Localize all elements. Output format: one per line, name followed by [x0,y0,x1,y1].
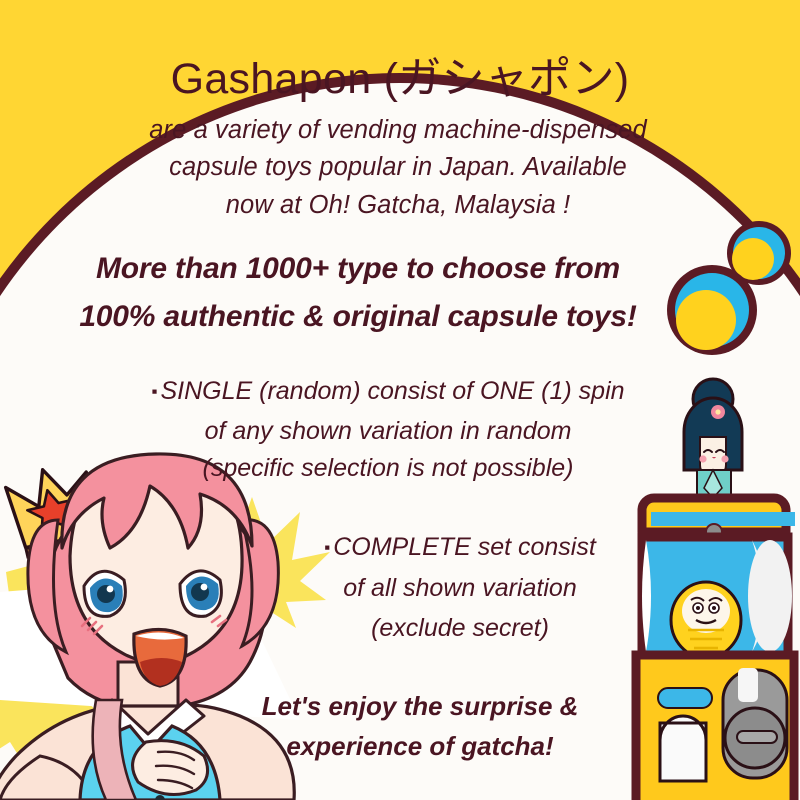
page-title: Gashapon (ガシャポン) [0,58,800,101]
highlight-line-2: 100% authentic & original capsule toys! [0,302,758,332]
lead-line-1: are a variety of vending machine-dispens… [0,118,798,144]
complete-option-line-2: of all shown variation [60,576,800,601]
bullet-marker-complete: ▪ [324,538,333,557]
highlight-line-1: More than 1000+ type to choose from [0,254,758,284]
complete-option-line-3: (exclude secret) [60,616,800,641]
lead-line-3: now at Oh! Gatcha, Malaysia ! [0,193,798,219]
closing-line-2: experience of gatcha! [20,733,800,759]
poster-canvas: Gashapon (ガシャポン) are a variety of vendin… [0,0,800,800]
single-option-line-2: of any shown variation in random [0,419,788,444]
lead-line-2: capsule toys popular in Japan. Available [0,155,798,181]
complete-option-text-1: COMPLETE set consist [333,533,596,561]
single-option-line-3: (specific selection is not possible) [0,456,788,481]
closing-line-1: Let's enjoy the surprise & [20,693,800,719]
single-option-text-1: SINGLE (random) consist of ONE (1) spin [160,377,624,405]
single-option-line-1: ▪SINGLE (random) consist of ONE (1) spin [0,379,788,404]
complete-option-line-1: ▪COMPLETE set consist [60,535,800,560]
